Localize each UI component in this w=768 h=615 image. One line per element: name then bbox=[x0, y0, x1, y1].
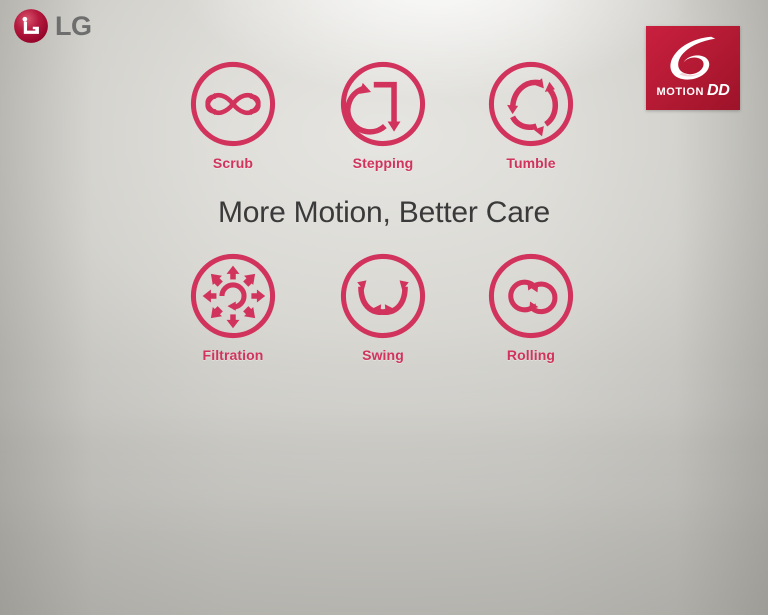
motion-item-rolling[interactable]: Rolling bbox=[471, 250, 591, 363]
lg-logo: LG bbox=[13, 8, 92, 44]
promo-banner: LG MOTIONDD Scrub bbox=[0, 0, 768, 615]
motion-label-tumble: Tumble bbox=[471, 155, 591, 171]
radiating-arrows-icon bbox=[187, 250, 279, 342]
motion-label-scrub: Scrub bbox=[173, 155, 293, 171]
infinity-arrows-icon bbox=[187, 58, 279, 150]
circular-down-arrow-icon bbox=[337, 58, 429, 150]
lg-wordmark: LG bbox=[55, 13, 92, 40]
six-motion-dd-badge: MOTIONDD bbox=[646, 26, 740, 110]
motion-label-rolling: Rolling bbox=[471, 347, 591, 363]
motion-item-stepping[interactable]: Stepping bbox=[323, 58, 443, 171]
badge-dd-label: DD bbox=[707, 82, 730, 99]
motion-label-swing: Swing bbox=[323, 347, 443, 363]
motion-item-tumble[interactable]: Tumble bbox=[471, 58, 591, 171]
tumble-swirl-arrows-icon bbox=[485, 58, 577, 150]
swing-curve-arrows-icon bbox=[337, 250, 429, 342]
badge-text-group: MOTIONDD bbox=[646, 83, 740, 99]
motion-label-filtration: Filtration bbox=[173, 347, 293, 363]
motion-item-filtration[interactable]: Filtration bbox=[173, 250, 293, 363]
lg-circle-logo-icon bbox=[13, 8, 49, 44]
motion-label-stepping: Stepping bbox=[323, 155, 443, 171]
motion-item-scrub[interactable]: Scrub bbox=[173, 58, 293, 171]
six-numeral-icon bbox=[656, 30, 730, 86]
double-circle-arrows-icon bbox=[485, 250, 577, 342]
motion-item-swing[interactable]: Swing bbox=[323, 250, 443, 363]
badge-motion-label: MOTION bbox=[656, 86, 704, 98]
page-title: More Motion, Better Care bbox=[0, 196, 768, 230]
